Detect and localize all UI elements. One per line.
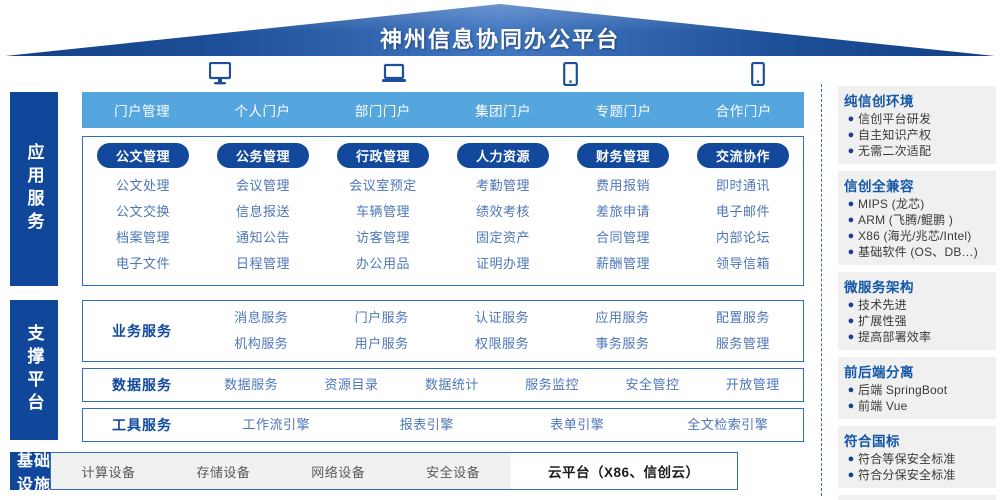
portal-bar: 门户管理个人门户部门门户集团门户专题门户合作门户	[82, 92, 804, 128]
category-pill[interactable]: 财务管理	[577, 143, 669, 168]
sidebar-item-label: 扩展性强	[858, 313, 907, 329]
service-item[interactable]: 开放管理	[703, 372, 803, 398]
sidebar-section-title: 纯信创环境	[844, 90, 990, 110]
application-item[interactable]: 信息报送	[236, 199, 290, 225]
bullet-icon: ●	[844, 244, 858, 260]
sidebar-list-item: ●扩展性强	[844, 313, 990, 329]
application-item[interactable]: 差旅申请	[596, 199, 650, 225]
service-item[interactable]: 配置服务	[683, 305, 803, 331]
support-business-services: 业务服务 消息服务门户服务认证服务应用服务配置服务机构服务用户服务权限服务事务服…	[82, 300, 804, 362]
application-category-column: 交流协作即时通讯电子邮件内部论坛领导信箱	[683, 137, 803, 285]
sidebar-section: 符合国标●符合等保安全标准●符合分保安全标准	[838, 426, 996, 488]
application-item[interactable]: 会议室预定	[349, 173, 417, 199]
sidebar-section-title: 符合国标	[844, 430, 990, 450]
support-business-items: 消息服务门户服务认证服务应用服务配置服务机构服务用户服务权限服务事务服务服务管理	[201, 301, 803, 361]
sidebar-list-item: ●后端 SpringBoot	[844, 382, 990, 398]
service-item[interactable]: 表单引擎	[502, 412, 653, 438]
support-business-label: 业务服务	[83, 321, 201, 341]
support-tool-items: 工作流引擎报表引擎表单引擎全文检索引擎	[201, 409, 803, 441]
sidebar-item-label: X86 (海光/兆芯/Intel)	[858, 228, 971, 244]
sidebar-item-label: 提高部署效率	[858, 329, 931, 345]
infrastructure-item[interactable]: 存储设备	[166, 462, 281, 481]
service-item[interactable]: 资源目录	[301, 372, 401, 398]
support-tool-label: 工具服务	[83, 415, 201, 435]
support-data-services: 数据服务 数据服务资源目录数据统计服务监控安全管控开放管理	[82, 368, 804, 402]
service-row: 消息服务门户服务认证服务应用服务配置服务	[201, 305, 803, 331]
infrastructure-item[interactable]: 计算设备	[51, 462, 166, 481]
service-item[interactable]: 用户服务	[321, 331, 441, 357]
service-item[interactable]: 报表引擎	[352, 412, 503, 438]
architecture-diagram: 神州信息协同办公平台	[0, 0, 1000, 500]
bullet-icon: ●	[844, 467, 858, 483]
sidebar-list-item: ●自主知识产权	[844, 127, 990, 143]
feature-sidebar: 纯信创环境●信创平台研发●自主知识产权●无需二次适配信创全兼容●MIPS (龙芯…	[838, 86, 996, 500]
band-application-services: 应用服务	[10, 92, 58, 286]
bullet-icon: ●	[844, 398, 858, 414]
bullet-icon: ●	[844, 127, 858, 143]
portal-item[interactable]: 合作门户	[684, 100, 804, 120]
sidebar-section-title: 信创全兼容	[844, 175, 990, 195]
sidebar-section: 前后端分离●后端 SpringBoot●前端 Vue	[838, 357, 996, 419]
infrastructure-devices: 计算设备存储设备网络设备安全设备	[51, 453, 511, 489]
infrastructure-item[interactable]: 安全设备	[396, 462, 511, 481]
application-item[interactable]: 通知公告	[236, 225, 290, 251]
bullet-icon: ●	[844, 313, 858, 329]
application-item[interactable]: 公文处理	[116, 173, 170, 199]
application-category-column: 公文管理公文处理公文交换档案管理电子文件	[83, 137, 203, 285]
main-column: 门户管理个人门户部门门户集团门户专题门户合作门户 公文管理公文处理公文交换档案管…	[66, 0, 816, 500]
sidebar-list-item: ●ARM (飞腾/鲲鹏 )	[844, 212, 990, 228]
application-item[interactable]: 电子邮件	[716, 199, 770, 225]
portal-item[interactable]: 部门门户	[323, 100, 443, 120]
sidebar-item-label: ARM (飞腾/鲲鹏 )	[858, 212, 953, 228]
sidebar-item-label: MIPS (龙芯)	[858, 196, 924, 212]
service-item[interactable]: 机构服务	[201, 331, 321, 357]
bullet-icon: ●	[844, 297, 858, 313]
bullet-icon: ●	[844, 143, 858, 159]
portal-item[interactable]: 集团门户	[443, 100, 563, 120]
service-item[interactable]: 服务管理	[683, 331, 803, 357]
infrastructure-panel: 计算设备存储设备网络设备安全设备 云平台（X86、信创云）	[50, 452, 738, 490]
service-item[interactable]: 数据统计	[402, 372, 502, 398]
sidebar-section: 纯信创环境●信创平台研发●自主知识产权●无需二次适配	[838, 86, 996, 164]
application-item[interactable]: 即时通讯	[716, 173, 770, 199]
application-category-column: 财务管理费用报销差旅申请合同管理薪酬管理	[563, 137, 683, 285]
service-row: 工作流引擎报表引擎表单引擎全文检索引擎	[201, 412, 803, 438]
service-item[interactable]: 认证服务	[442, 305, 562, 331]
portal-item[interactable]: 个人门户	[202, 100, 322, 120]
sidebar-item-label: 后端 SpringBoot	[858, 382, 947, 398]
bullet-icon: ●	[844, 111, 858, 127]
application-item[interactable]: 公文交换	[116, 199, 170, 225]
sidebar-section-title: 微服务架构	[844, 276, 990, 296]
sidebar-list-item: ●提高部署效率	[844, 329, 990, 345]
sidebar-list-item: ●符合等保安全标准	[844, 451, 990, 467]
application-item[interactable]: 证明办理	[476, 251, 530, 277]
service-item[interactable]: 服务监控	[502, 372, 602, 398]
section-divider	[821, 84, 822, 496]
application-item[interactable]: 电子文件	[116, 251, 170, 277]
sidebar-item-label: 信创平台研发	[858, 111, 931, 127]
application-item[interactable]: 内部论坛	[716, 225, 770, 251]
application-item[interactable]: 日程管理	[236, 251, 290, 277]
support-tool-services: 工具服务 工作流引擎报表引擎表单引擎全文检索引擎	[82, 408, 804, 442]
bullet-icon: ●	[844, 196, 858, 212]
application-item[interactable]: 固定资产	[476, 225, 530, 251]
application-item[interactable]: 合同管理	[596, 225, 650, 251]
sidebar-list-item: ●基础软件 (OS、DB…)	[844, 244, 990, 260]
sidebar-item-label: 前端 Vue	[858, 398, 907, 414]
sidebar-list-item: ●前端 Vue	[844, 398, 990, 414]
sidebar-item-label: 技术先进	[858, 297, 907, 313]
application-category-column: 行政管理会议室预定车辆管理访客管理办公用品	[323, 137, 443, 285]
portal-item[interactable]: 门户管理	[82, 100, 202, 120]
category-pill[interactable]: 行政管理	[337, 143, 429, 168]
sidebar-section: 接口丰富●开放API管理	[838, 495, 996, 500]
band-support-platform: 支撑平台	[10, 300, 58, 440]
service-item[interactable]: 工作流引擎	[201, 412, 352, 438]
category-pill[interactable]: 人力资源	[457, 143, 549, 168]
service-item[interactable]: 消息服务	[201, 305, 321, 331]
service-item[interactable]: 权限服务	[442, 331, 562, 357]
service-item[interactable]: 安全管控	[602, 372, 702, 398]
infrastructure-item[interactable]: 网络设备	[281, 462, 396, 481]
bullet-icon: ●	[844, 382, 858, 398]
sidebar-item-label: 无需二次适配	[858, 143, 931, 159]
portal-item[interactable]: 专题门户	[563, 100, 683, 120]
application-item[interactable]: 访客管理	[356, 225, 410, 251]
application-category-column: 公务管理会议管理信息报送通知公告日程管理	[203, 137, 323, 285]
sidebar-list-item: ●符合分保安全标准	[844, 467, 990, 483]
sidebar-item-label: 自主知识产权	[858, 127, 931, 143]
support-data-label: 数据服务	[83, 375, 201, 395]
service-item[interactable]: 事务服务	[562, 331, 682, 357]
sidebar-list-item: ●无需二次适配	[844, 143, 990, 159]
application-services-grid: 公文管理公文处理公文交换档案管理电子文件公务管理会议管理信息报送通知公告日程管理…	[83, 137, 803, 285]
service-item[interactable]: 门户服务	[321, 305, 441, 331]
application-item[interactable]: 绩效考核	[476, 199, 530, 225]
sidebar-section: 信创全兼容●MIPS (龙芯)●ARM (飞腾/鲲鹏 )●X86 (海光/兆芯/…	[838, 171, 996, 265]
infrastructure-cloud-platform: 云平台（X86、信创云）	[511, 453, 737, 489]
application-item[interactable]: 领导信箱	[716, 251, 770, 277]
support-data-items: 数据服务资源目录数据统计服务监控安全管控开放管理	[201, 369, 803, 401]
application-item[interactable]: 薪酬管理	[596, 251, 650, 277]
application-item[interactable]: 考勤管理	[476, 173, 530, 199]
sidebar-section: 微服务架构●技术先进●扩展性强●提高部署效率	[838, 272, 996, 350]
application-services-panel: 公文管理公文处理公文交换档案管理电子文件公务管理会议管理信息报送通知公告日程管理…	[82, 136, 804, 286]
application-item[interactable]: 档案管理	[116, 225, 170, 251]
bullet-icon: ●	[844, 212, 858, 228]
service-row: 机构服务用户服务权限服务事务服务服务管理	[201, 331, 803, 357]
service-item[interactable]: 应用服务	[562, 305, 682, 331]
application-item[interactable]: 会议管理	[236, 173, 290, 199]
bullet-icon: ●	[844, 228, 858, 244]
sidebar-list-item: ●信创平台研发	[844, 111, 990, 127]
service-item[interactable]: 全文检索引擎	[653, 412, 804, 438]
application-item[interactable]: 费用报销	[596, 173, 650, 199]
category-pill[interactable]: 交流协作	[697, 143, 789, 168]
service-row: 数据服务资源目录数据统计服务监控安全管控开放管理	[201, 372, 803, 398]
sidebar-list-item: ●技术先进	[844, 297, 990, 313]
sidebar-list-item: ●MIPS (龙芯)	[844, 196, 990, 212]
sidebar-item-label: 符合等保安全标准	[858, 451, 956, 467]
application-item[interactable]: 办公用品	[356, 251, 410, 277]
bullet-icon: ●	[844, 451, 858, 467]
bullet-icon: ●	[844, 329, 858, 345]
sidebar-item-label: 基础软件 (OS、DB…)	[858, 244, 978, 260]
category-pill[interactable]: 公务管理	[217, 143, 309, 168]
sidebar-section-title: 前后端分离	[844, 361, 990, 381]
sidebar-item-label: 符合分保安全标准	[858, 467, 956, 483]
category-pill[interactable]: 公文管理	[97, 143, 189, 168]
sidebar-list-item: ●X86 (海光/兆芯/Intel)	[844, 228, 990, 244]
service-item[interactable]: 数据服务	[201, 372, 301, 398]
application-item[interactable]: 车辆管理	[356, 199, 410, 225]
application-category-column: 人力资源考勤管理绩效考核固定资产证明办理	[443, 137, 563, 285]
